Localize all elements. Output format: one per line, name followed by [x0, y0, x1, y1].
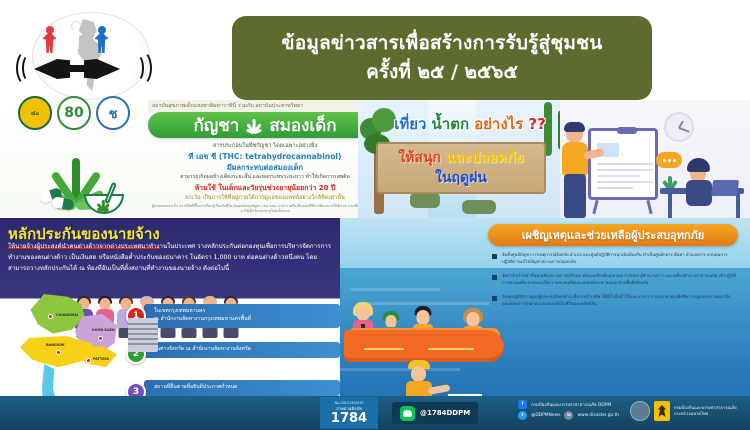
- line-contact[interactable]: @1784DDPM: [392, 402, 478, 424]
- cannabis-line-6: ยกเว้น เป็นการใช้ที่อยู่ภายใต้การดูแลของ…: [150, 194, 380, 202]
- department-name-line-2: กระทรวงมหาดไทย: [674, 411, 737, 417]
- flood-section-title: เผชิญเหตุและช่วยเหลือผู้ประสบอุทกภัย: [488, 224, 738, 246]
- cannabis-banner-left-text: กัญชา: [193, 112, 239, 139]
- twitter-label: @DDPMNews: [531, 413, 560, 418]
- desk-leg: [668, 194, 672, 218]
- whiteboard-clip: [617, 127, 637, 134]
- garuda-emblem-icon: [654, 401, 670, 421]
- flood-bullet-item: จัดกำลังเจ้าหน้าที่ชุดเผชิญสถานการณ์วิกฤ…: [492, 273, 738, 287]
- waterfall-headline-question-marks: ??: [528, 115, 545, 133]
- page-title-line-2: ครั้งที่ ๒๕ / ๒๕๖๕: [366, 60, 518, 85]
- department-block: กรมป้องกันและบรรเทาสาธารณภัย กระทรวงมหาด…: [630, 401, 737, 421]
- line-id-text: @1784DDPM: [420, 409, 470, 417]
- department-seal-icon: [630, 401, 650, 421]
- boat-rope: [428, 348, 474, 350]
- flood-bullet-item: จัดชุดปฏิบัติการดูแลผู้ประสบภัยทุกด้าน ท…: [492, 294, 738, 308]
- water-wave: [340, 368, 460, 371]
- map-pin-label: BANGKOK: [46, 343, 65, 347]
- map-pin: [86, 358, 91, 363]
- person-white-icon: [68, 22, 83, 52]
- waterfall-wooden-sign: ให้สนุก และปลอดภัย ในฤดูฝน: [376, 142, 546, 194]
- cannabis-line-2: ที เอช ซี (THC: tetrahydrocannabinol): [150, 151, 380, 162]
- map-pin: [56, 350, 61, 355]
- list-item-line-1: ในเขตกรุงเทพมหานคร: [154, 308, 340, 316]
- list-item-bar: ในต่างจังหวัด ณ สำนักงานจัดหางานจังหวัด: [144, 342, 340, 358]
- waterfall-sign-line-1a: ให้สนุก: [398, 150, 441, 166]
- cannabis-line-1: สารประกอบในพืชกัญชา โดยเฉพาะอย่างยิ่ง: [150, 142, 380, 150]
- waterfall-headline-word-2: น้ำตก: [432, 115, 470, 133]
- person-red-icon: [42, 26, 57, 56]
- page-title: ข้อมูลข่าวสารเพื่อสร้างการรับรู้สู่ชุมชน…: [232, 16, 652, 100]
- whiteboard-legs: [594, 200, 652, 214]
- mortar-pestle-icon: [84, 184, 124, 214]
- cannabis-line-4: สามารถเกิดผลข้างเคียงระยะสั้น และผลกระทบ…: [150, 174, 380, 182]
- cannabis-line-3: มีผลกระทบต่อสมองเด็ก: [150, 162, 380, 173]
- sound-wave-icon: [130, 50, 152, 86]
- boat-rope: [364, 348, 404, 350]
- wall-clock-icon: [664, 112, 694, 142]
- twitter-icon: t: [518, 411, 527, 420]
- cannabis-line-5: ห้ามใช้ ในเด็กและวัยรุ่นช่วงอายุน้อยกว่า…: [150, 183, 380, 193]
- partner-logo-2: 80: [57, 96, 91, 130]
- office-building-icon: [128, 318, 158, 352]
- waterfall-safety-panel: เที่ยว น้ำตก อย่างไร ?? ให้สนุก และปลอดภ…: [358, 100, 582, 218]
- cannabis-banner: กัญชา สมองเด็ก: [148, 112, 382, 138]
- partner-logo-1-text: ๘๐: [31, 108, 39, 118]
- partner-logo-1: ๘๐: [18, 96, 52, 130]
- list-item-line-1: สถานที่อื่นตามที่อธิบดีประกาศกำหนด: [154, 384, 340, 392]
- institution-strip: สถาบันสุขภาพเด็กแห่งชาติมหาราชินี ร่วมกั…: [148, 100, 382, 112]
- waterfall-headline-word-1: เที่ยว: [394, 115, 426, 133]
- cannabis-text-block: สารประกอบในพืชกัญชา โดยเฉพาะอย่างยิ่ง ที…: [150, 142, 380, 214]
- waterfall-headline-word-3: อย่างไร: [474, 115, 523, 133]
- hotline-block[interactable]: No.108-01904543 สายด่วนนิรภัย 1784: [320, 397, 378, 429]
- infographic-poster: ๘๐ 80 ช ข้อมูลข่าวสารเพื่อสร้างการรับรู้…: [0, 0, 750, 430]
- cannabis-leaf-icon: [245, 116, 263, 134]
- megaphone-right-icon: [74, 56, 120, 82]
- partner-logo-3: ช: [96, 96, 130, 130]
- person-blue-icon: [94, 26, 109, 56]
- hotline-number: 1784: [331, 412, 367, 425]
- partner-logos: ๘๐ 80 ช: [18, 96, 130, 130]
- facebook-link[interactable]: f กรมป้องกันและบรรเทาสาธารณภัย DDPM: [518, 400, 619, 409]
- whiteboard: [588, 128, 658, 200]
- partner-logo-3-text: ช: [109, 103, 118, 124]
- department-name: กรมป้องกันและบรรเทาสาธารณภัย กระทรวงมหาด…: [674, 405, 737, 418]
- employer-guarantee-body: ให้นายจ้างผู้ประสงค์นำคนต่างด้าวจากต่างป…: [8, 242, 334, 275]
- cannabis-banner-right-text: สมองเด็ก: [269, 112, 336, 139]
- seated-person: [682, 158, 728, 214]
- line-app-icon: [400, 406, 415, 421]
- social-links: f กรมป้องกันและบรรเทาสาธารณภัย DDPM t @D…: [518, 400, 619, 420]
- desk-leg: [736, 194, 740, 218]
- sound-wave-icon: [16, 50, 38, 86]
- partner-logo-2-text: 80: [64, 105, 83, 121]
- map-pin-label: KHON KAEN: [92, 328, 115, 332]
- facebook-icon: f: [518, 400, 527, 409]
- cannabis-fine-print: ผู้ปกครองและเด็ก ควรมีสิทธิ์ขึ้นการเรียน…: [150, 204, 380, 215]
- twitter-link[interactable]: t @DDPMNews w www.disaster.go.th: [518, 411, 619, 420]
- speech-bubble-icon: [656, 152, 682, 168]
- map-pin: [98, 336, 103, 341]
- laptop-icon: [711, 180, 739, 196]
- website-label: www.disaster.go.th: [577, 413, 619, 418]
- waterfall-sign-line-1b: และปลอดภัย: [446, 150, 524, 166]
- flood-bullet-list: จัดตั้งศูนย์บัญชาการเหตุการณ์จังหวัด อำเ…: [492, 252, 738, 315]
- map-pin-label: CHIANGMAI: [56, 313, 78, 317]
- footer-bar: No.108-01904543 สายด่วนนิรภัย 1784 @1784…: [0, 396, 750, 430]
- rock-shape: [410, 192, 440, 208]
- header-band: ๘๐ 80 ช ข้อมูลข่าวสารเพื่อสร้างการรับรู้…: [0, 0, 750, 100]
- boat-hull: [344, 330, 504, 362]
- cannabis-medicine-graphic: [22, 148, 152, 216]
- office-presentation-illustration: [560, 100, 750, 218]
- flood-bullet-item: จัดตั้งศูนย์บัญชาการเหตุการณ์จังหวัด อำเ…: [492, 252, 738, 266]
- globe-icon: w: [564, 411, 573, 420]
- facebook-label: กรมป้องกันและบรรเทาสาธารณภัย DDPM: [531, 401, 611, 408]
- waterfall-headline: เที่ยว น้ำตก อย่างไร ??: [358, 114, 582, 133]
- waterfall-sign-line-2: ในฤดูฝน: [435, 167, 487, 189]
- list-item-bar: สถานที่อื่นตามที่อธิบดีประกาศกำหนด: [144, 380, 340, 396]
- list-item-line-1: ในต่างจังหวัด ณ สำนักงานจัดหางานจังหวัด: [154, 346, 340, 354]
- rescue-boat-illustration: [344, 304, 504, 362]
- flood-section-title-text: เผชิญเหตุและช่วยเหลือผู้ประสบอุทกภัย: [522, 226, 705, 244]
- map-pin: [48, 314, 53, 319]
- page-title-line-1: ข้อมูลข่าวสารเพื่อสร้างการรับรู้สู่ชุมชน: [282, 31, 603, 56]
- presenter-person: [560, 124, 594, 218]
- water-wave: [350, 288, 440, 291]
- list-item-bar: ในเขตกรุงเทพมหานคร ณ สำนักงานจัดหางานกรุ…: [144, 304, 340, 328]
- list-item-line-2: ณ สำนักงานจัดหางานกรุงเทพมหานครพื้นที่: [154, 316, 340, 324]
- rock-shape: [462, 200, 496, 214]
- map-pin-label: PATTAYA: [93, 357, 109, 361]
